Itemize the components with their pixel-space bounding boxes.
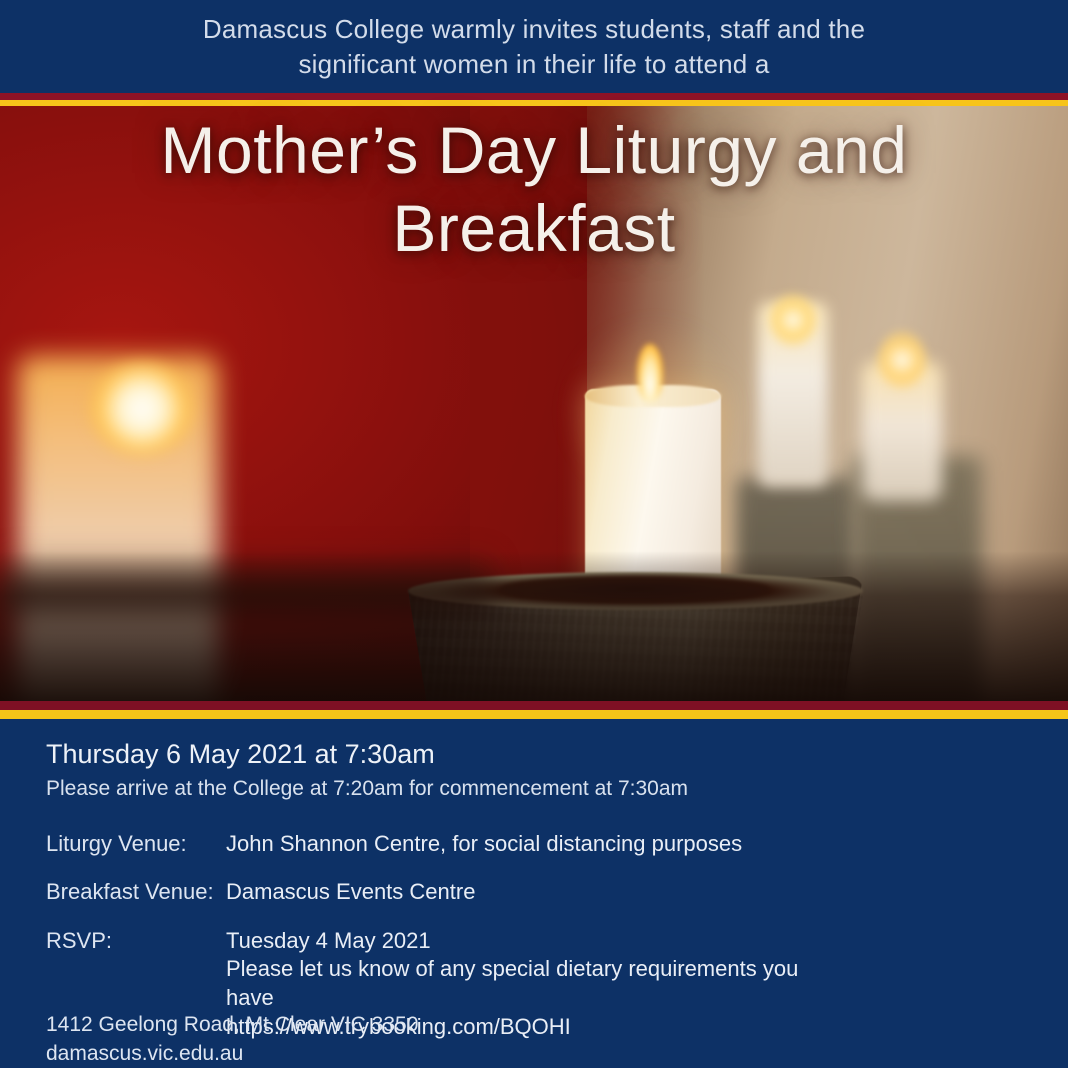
- details-text-block: Thursday 6 May 2021 at 7:30am Please arr…: [46, 738, 836, 1041]
- footer-address: 1412 Geelong Road, Mt Clear VIC 3350: [46, 1011, 418, 1040]
- divider-stripe-bottom: [0, 701, 1068, 719]
- photo-foreground-shadow: [0, 551, 1068, 701]
- rsvp-dietary-note: Please let us know of any special dietar…: [226, 955, 836, 1012]
- main-candle-flame-icon: [637, 344, 663, 402]
- stripe-bottom-maroon-band: [0, 701, 1068, 710]
- divider-stripe-top: [0, 93, 1068, 106]
- details-panel: Thursday 6 May 2021 at 7:30am Please arr…: [0, 719, 1068, 1068]
- event-date-time: Thursday 6 May 2021 at 7:30am: [46, 738, 836, 770]
- liturgy-venue-label: Liturgy Venue:: [46, 830, 226, 859]
- foreground-blurred-candle-left-flame-icon: [92, 364, 192, 454]
- event-arrival-note: Please arrive at the College at 7:20am f…: [46, 776, 836, 801]
- breakfast-venue-label: Breakfast Venue:: [46, 878, 226, 907]
- invitation-poster: Damascus College warmly invites students…: [0, 0, 1068, 1068]
- rsvp-date: Tuesday 4 May 2021: [226, 927, 836, 956]
- detail-row-breakfast-venue: Breakfast Venue: Damascus Events Centre: [46, 878, 836, 907]
- header-invite-text: Damascus College warmly invites students…: [164, 12, 904, 81]
- header-line-2: significant women in their life to atten…: [164, 47, 904, 82]
- breakfast-venue-value: Damascus Events Centre: [226, 878, 475, 907]
- detail-row-liturgy-venue: Liturgy Venue: John Shannon Centre, for …: [46, 830, 836, 859]
- stripe-maroon-band: [0, 93, 1068, 100]
- header-banner: Damascus College warmly invites students…: [0, 0, 1068, 93]
- footer-contact: 1412 Geelong Road, Mt Clear VIC 3350 dam…: [46, 1011, 418, 1068]
- candle-photo: [0, 106, 1068, 701]
- liturgy-venue-value: John Shannon Centre, for social distanci…: [226, 830, 742, 859]
- stripe-bottom-gold-band: [0, 710, 1068, 719]
- background-candle-2-flame-icon: [878, 331, 926, 389]
- footer-website[interactable]: damascus.vic.edu.au: [46, 1040, 418, 1068]
- header-line-1: Damascus College warmly invites students…: [203, 14, 865, 44]
- background-candle-1-flame-icon: [770, 294, 816, 346]
